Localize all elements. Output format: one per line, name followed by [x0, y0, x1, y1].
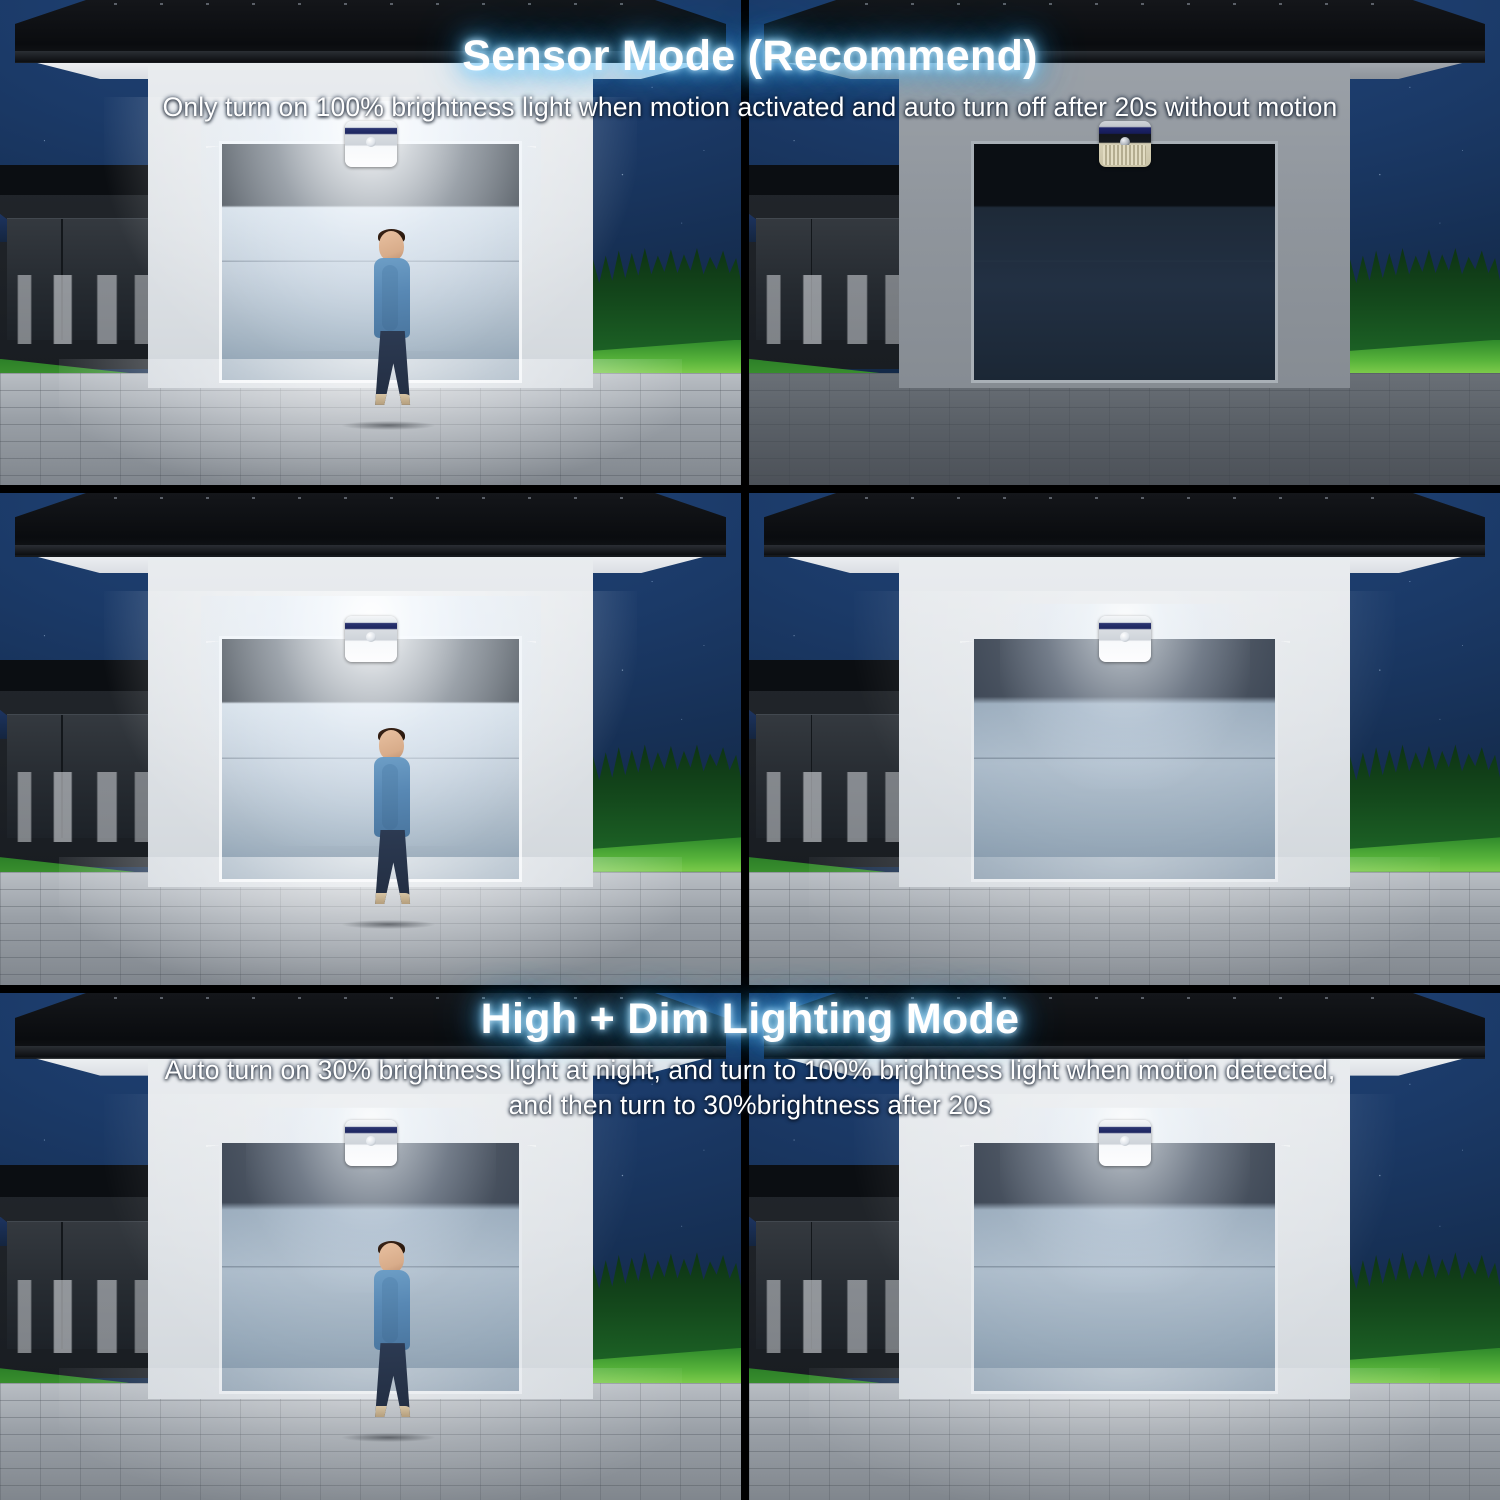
person-shoe-back: [388, 1406, 412, 1417]
person-arm: [382, 764, 398, 830]
person-arm: [382, 265, 398, 331]
scene-constant-lit30: [749, 993, 1500, 1500]
walking-person: [363, 1243, 425, 1439]
roof-trim-dots: [865, 997, 1384, 999]
garage-door: [971, 141, 1279, 384]
person-shoe-back: [388, 394, 412, 405]
panel-constant-mode: Constant Lighting Mode Solar lights auto…: [0, 993, 1500, 1500]
paver-texture: [749, 373, 1500, 485]
paver-texture: [749, 1383, 1500, 1500]
person-jeans: [374, 1343, 412, 1417]
roof-gutter: [764, 545, 1485, 556]
scene-sensor-mode-off: [749, 0, 1500, 485]
walking-person: [363, 231, 425, 427]
motion-sensor: [1120, 632, 1130, 642]
motion-sensor: [366, 632, 376, 642]
driveway: [749, 373, 1500, 485]
roof-gutter: [15, 51, 726, 62]
solar-motion-light: [345, 616, 397, 662]
person-jeans: [374, 830, 412, 904]
solar-motion-light: [1099, 1120, 1151, 1166]
person-jeans: [374, 331, 412, 405]
panel-high-dim-mode: High + Dim Lighting Mode Auto turn on 30…: [0, 493, 1500, 985]
scene-constant-lit30-person: [0, 993, 741, 1500]
roof-gutter: [764, 51, 1485, 62]
driveway: [749, 872, 1500, 985]
solar-motion-light: [1099, 616, 1151, 662]
motion-sensor: [366, 137, 376, 147]
roof-gutter: [764, 1046, 1485, 1057]
person-shadow: [342, 421, 435, 430]
neighbour-interior-furniture: [763, 772, 914, 842]
neighbour-interior-furniture: [763, 1280, 914, 1352]
neighbour-interior-furniture: [14, 772, 163, 842]
scene-high-dim-lit30: [749, 493, 1500, 985]
roof-trim-dots: [865, 3, 1384, 5]
person-arm: [382, 1277, 398, 1343]
person-head: [379, 1243, 404, 1273]
garage-door-seams: [974, 703, 1276, 878]
roof-trim-dots: [114, 997, 626, 999]
person-shoe-front: [372, 1406, 396, 1417]
neighbour-interior-furniture: [14, 275, 163, 344]
person-shoe-front: [372, 394, 396, 405]
person-shadow: [342, 920, 435, 929]
roof-gutter: [15, 1046, 726, 1057]
roof-trim-dots: [114, 497, 626, 499]
walking-person: [363, 730, 425, 926]
scene-sensor-mode-lit: [0, 0, 741, 485]
neighbour-interior-furniture: [763, 275, 914, 344]
paver-texture: [749, 872, 1500, 985]
roof-trim-dots: [865, 497, 1384, 499]
led-strip: [1103, 145, 1147, 165]
neighbour-interior-furniture: [14, 1280, 163, 1352]
motion-sensor: [366, 1136, 376, 1146]
roof-trim-dots: [114, 3, 626, 5]
person-head: [379, 730, 404, 760]
panel-sensor-mode: Sensor Mode (Recommend) Only turn on 100…: [0, 0, 1500, 485]
motion-sensor: [1120, 1136, 1130, 1146]
scene-high-dim-lit100: [0, 493, 741, 985]
driveway: [749, 1383, 1500, 1500]
solar-motion-light: [345, 121, 397, 167]
solar-motion-light: [345, 1120, 397, 1166]
solar-motion-light: [1099, 121, 1151, 167]
person-shoe-front: [372, 893, 396, 904]
roof-gutter: [15, 545, 726, 556]
garage-door-seams: [974, 207, 1276, 380]
person-shoe-back: [388, 893, 412, 904]
product-infographic: Sensor Mode (Recommend) Only turn on 100…: [0, 0, 1500, 1500]
garage-door: [971, 1140, 1279, 1394]
garage-door: [971, 636, 1279, 882]
person-head: [379, 231, 404, 261]
garage-door-seams: [974, 1210, 1276, 1391]
